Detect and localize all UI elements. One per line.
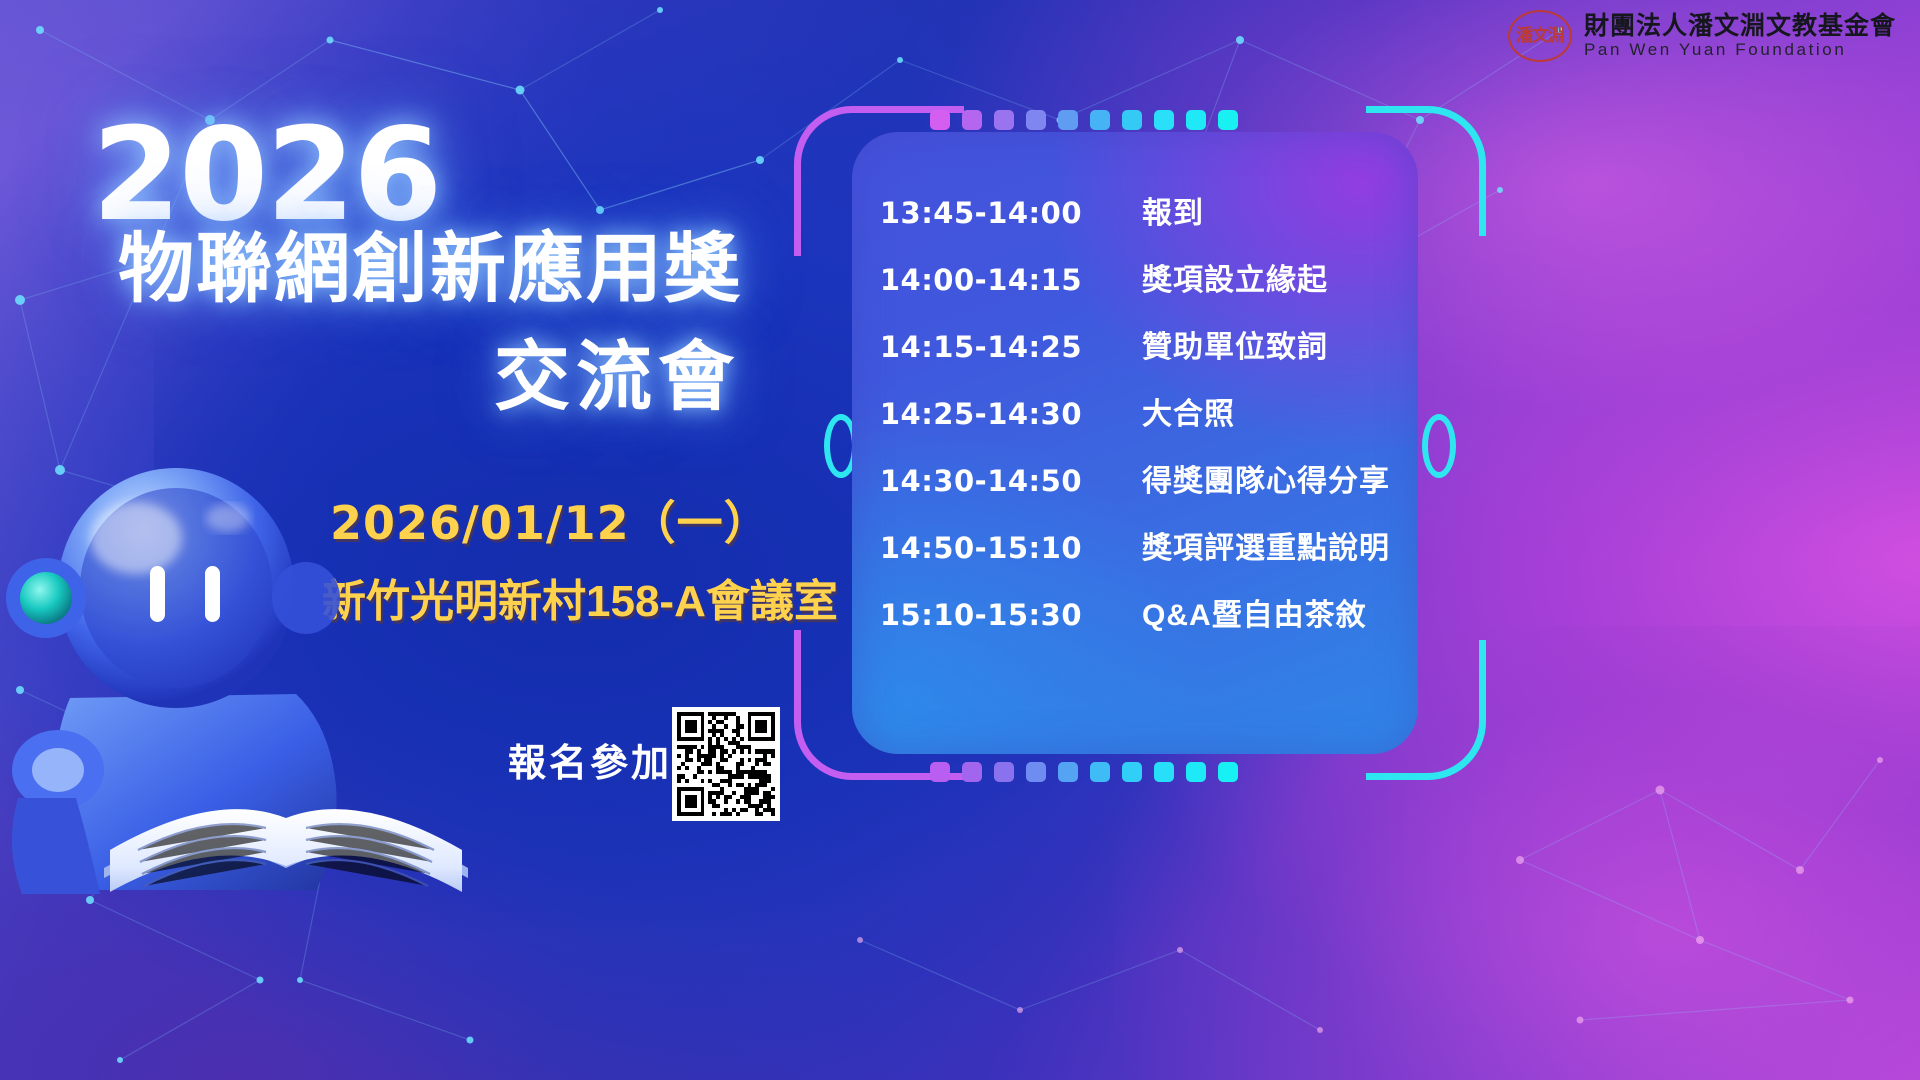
agenda-row: 14:00-14:15獎項設立緣起 <box>852 255 1418 322</box>
agenda-row-description: 大合照 <box>1142 389 1235 433</box>
decor-bottom-dot <box>930 762 950 782</box>
event-year: 2026 <box>92 112 440 240</box>
agenda-row-description: 報到 <box>1142 188 1204 232</box>
agenda-row-time: 14:50-15:10 <box>852 531 1082 565</box>
agenda-row: 14:25-14:30大合照 <box>852 389 1418 456</box>
poster-canvas: 潘文淵 財團法人潘文淵文教基金會 Pan Wen Yuan Foundation… <box>0 0 1920 1080</box>
agenda-row-description: 獎項評選重點說明 <box>1142 523 1390 567</box>
decor-top-dot <box>1058 110 1078 130</box>
event-title-line2: 交流會 <box>494 340 740 416</box>
decor-top-dot <box>1154 110 1174 130</box>
agenda-row-time: 14:30-14:50 <box>852 464 1082 498</box>
foundation-logo: 潘文淵 財團法人潘文淵文教基金會 Pan Wen Yuan Foundation <box>1508 10 1896 62</box>
agenda-row-description: Q&A暨自由茶敘 <box>1142 590 1367 634</box>
decor-bottom-dot <box>1122 762 1142 782</box>
frame-ring-right <box>1422 414 1456 478</box>
decor-bottom-dot <box>1090 762 1110 782</box>
signup-label: 報名參加 <box>508 745 672 783</box>
agenda-row: 14:50-15:10獎項評選重點說明 <box>852 523 1418 590</box>
agenda-panel-zone: 13:45-14:00報到14:00-14:15獎項設立緣起14:15-14:2… <box>790 96 1490 786</box>
foundation-seal-icon: 潘文淵 <box>1508 10 1572 62</box>
decor-top-dot <box>1090 110 1110 130</box>
decor-dots-top <box>930 110 1238 130</box>
decor-bottom-dot <box>994 762 1014 782</box>
foundation-name-en: Pan Wen Yuan Foundation <box>1584 41 1896 59</box>
decor-bottom-dot <box>1218 762 1238 782</box>
registration-qr-code[interactable] <box>672 707 780 821</box>
agenda-row-description: 得獎團隊心得分享 <box>1142 456 1390 500</box>
decor-top-dot <box>1186 110 1206 130</box>
decor-top-dot <box>1218 110 1238 130</box>
event-title-line1: 物聯網創新應用獎 <box>118 232 742 308</box>
decor-bottom-dot <box>962 762 982 782</box>
agenda-row-time: 14:00-14:15 <box>852 263 1082 297</box>
agenda-panel: 13:45-14:00報到14:00-14:15獎項設立緣起14:15-14:2… <box>852 132 1418 754</box>
foundation-logo-text: 財團法人潘文淵文教基金會 Pan Wen Yuan Foundation <box>1584 13 1896 59</box>
decor-top-dot <box>930 110 950 130</box>
robot-reading-book-illustration <box>0 398 500 898</box>
decor-top-dot <box>994 110 1014 130</box>
agenda-row-description: 贊助單位致詞 <box>1142 322 1328 366</box>
decor-bottom-dot <box>1154 762 1174 782</box>
foundation-name-cn: 財團法人潘文淵文教基金會 <box>1584 13 1896 39</box>
decor-top-dot <box>962 110 982 130</box>
decor-bottom-dot <box>1058 762 1078 782</box>
agenda-row: 13:45-14:00報到 <box>852 188 1418 255</box>
decor-dots-bottom <box>930 762 1238 782</box>
decor-bottom-dot <box>1026 762 1046 782</box>
agenda-row-time: 14:25-14:30 <box>852 397 1082 431</box>
agenda-row: 14:30-14:50得獎團隊心得分享 <box>852 456 1418 523</box>
agenda-row-time: 14:15-14:25 <box>852 330 1082 364</box>
decor-top-dot <box>1026 110 1046 130</box>
agenda-row: 14:15-14:25贊助單位致詞 <box>852 322 1418 389</box>
agenda-row: 15:10-15:30Q&A暨自由茶敘 <box>852 590 1418 657</box>
agenda-row-description: 獎項設立緣起 <box>1142 255 1328 299</box>
agenda-row-time: 13:45-14:00 <box>852 196 1082 230</box>
decor-bottom-dot <box>1186 762 1206 782</box>
decor-top-dot <box>1122 110 1142 130</box>
agenda-row-time: 15:10-15:30 <box>852 598 1082 632</box>
qr-module-grid <box>677 712 775 816</box>
